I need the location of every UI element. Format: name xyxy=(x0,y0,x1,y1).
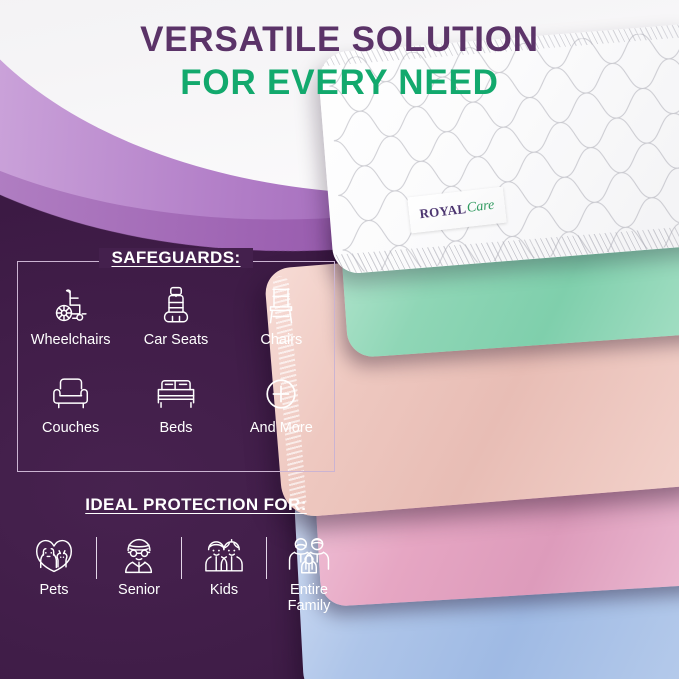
ideal-label: Kids xyxy=(210,583,238,599)
couch-icon xyxy=(50,372,92,416)
ideal-label: Entire Family xyxy=(288,583,331,614)
senior-icon xyxy=(119,535,159,577)
ideal-protection-row: Pets xyxy=(17,535,347,614)
safeguard-label: Beds xyxy=(159,421,192,436)
ideal-item-entire-family: Entire Family xyxy=(272,535,346,614)
divider xyxy=(266,537,267,579)
chair-icon xyxy=(263,284,299,328)
safeguard-label: Chairs xyxy=(260,333,302,348)
safeguards-grid: Wheelchairs Car Seats xyxy=(18,284,334,460)
headline-line-1: VERSATILE SOLUTION xyxy=(0,22,679,57)
safeguard-label: Couches xyxy=(42,421,99,436)
ideal-protection-title: IDEAL PROTECTION FOR: xyxy=(17,495,347,515)
headline: VERSATILE SOLUTION FOR EVERY NEED xyxy=(0,22,679,100)
ideal-protection-section: IDEAL PROTECTION FOR: xyxy=(17,495,347,614)
safeguard-item-couches: Couches xyxy=(18,372,123,460)
bed-icon xyxy=(154,372,198,416)
safeguard-item-beds: Beds xyxy=(123,372,228,460)
car-seat-icon xyxy=(157,284,195,328)
divider xyxy=(181,537,182,579)
safeguard-label: And More xyxy=(250,421,313,436)
product-pad-stack: ROYAL Care xyxy=(291,46,679,679)
safeguard-item-chairs: Chairs xyxy=(229,284,334,372)
safeguard-item-and-more: And More xyxy=(229,372,334,460)
headline-line-2: FOR EVERY NEED xyxy=(0,65,679,100)
safeguards-panel: SAFEGUARDS: xyxy=(17,261,335,472)
pets-icon xyxy=(33,535,75,577)
ideal-item-kids: Kids xyxy=(187,535,261,599)
ideal-item-senior: Senior xyxy=(102,535,176,599)
ideal-item-pets: Pets xyxy=(17,535,91,599)
brand-name-secondary: Care xyxy=(466,198,495,217)
product-infographic: VERSATILE SOLUTION FOR EVERY NEED ROYAL … xyxy=(0,0,679,679)
divider xyxy=(96,537,97,579)
ideal-label: Pets xyxy=(39,583,68,599)
family-icon xyxy=(287,535,331,577)
ideal-label: Senior xyxy=(118,583,160,599)
wheelchair-icon xyxy=(50,284,92,328)
safeguard-label: Wheelchairs xyxy=(31,333,111,348)
safeguard-item-wheelchairs: Wheelchairs xyxy=(18,284,123,372)
safeguard-label: Car Seats xyxy=(144,333,208,348)
safeguard-item-car-seats: Car Seats xyxy=(123,284,228,372)
brand-name-primary: ROYAL xyxy=(419,201,467,222)
plus-circle-icon xyxy=(262,372,300,416)
kids-icon xyxy=(202,535,246,577)
